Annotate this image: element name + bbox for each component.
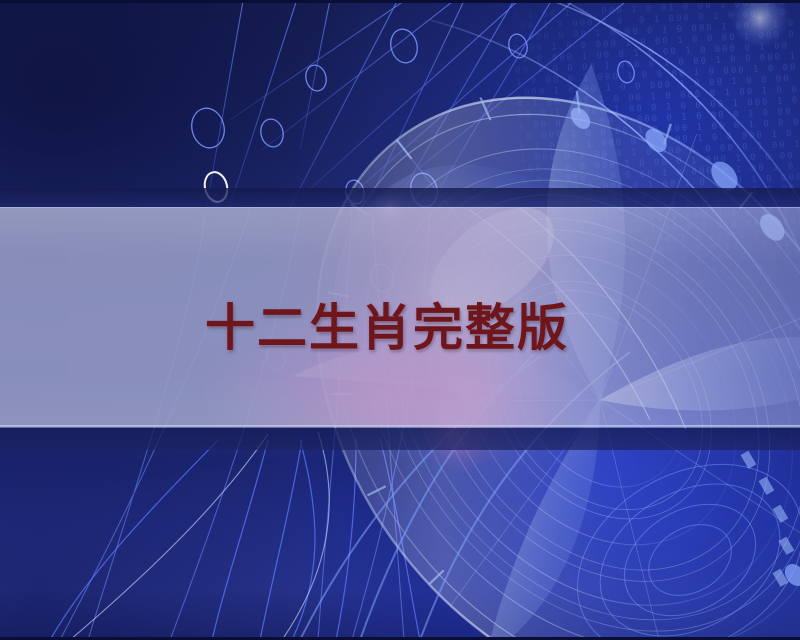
slide-canvas: 0 1 00 1 0 000 1 0 01 0 00 1 000 0 1 00 … bbox=[0, 0, 800, 640]
canvas-top-edge bbox=[0, 0, 800, 3]
band-dark-top bbox=[0, 188, 800, 207]
band-light-overlay bbox=[0, 207, 800, 427]
band-dark-bottom bbox=[0, 428, 800, 450]
band-light-sheen bbox=[0, 208, 800, 427]
